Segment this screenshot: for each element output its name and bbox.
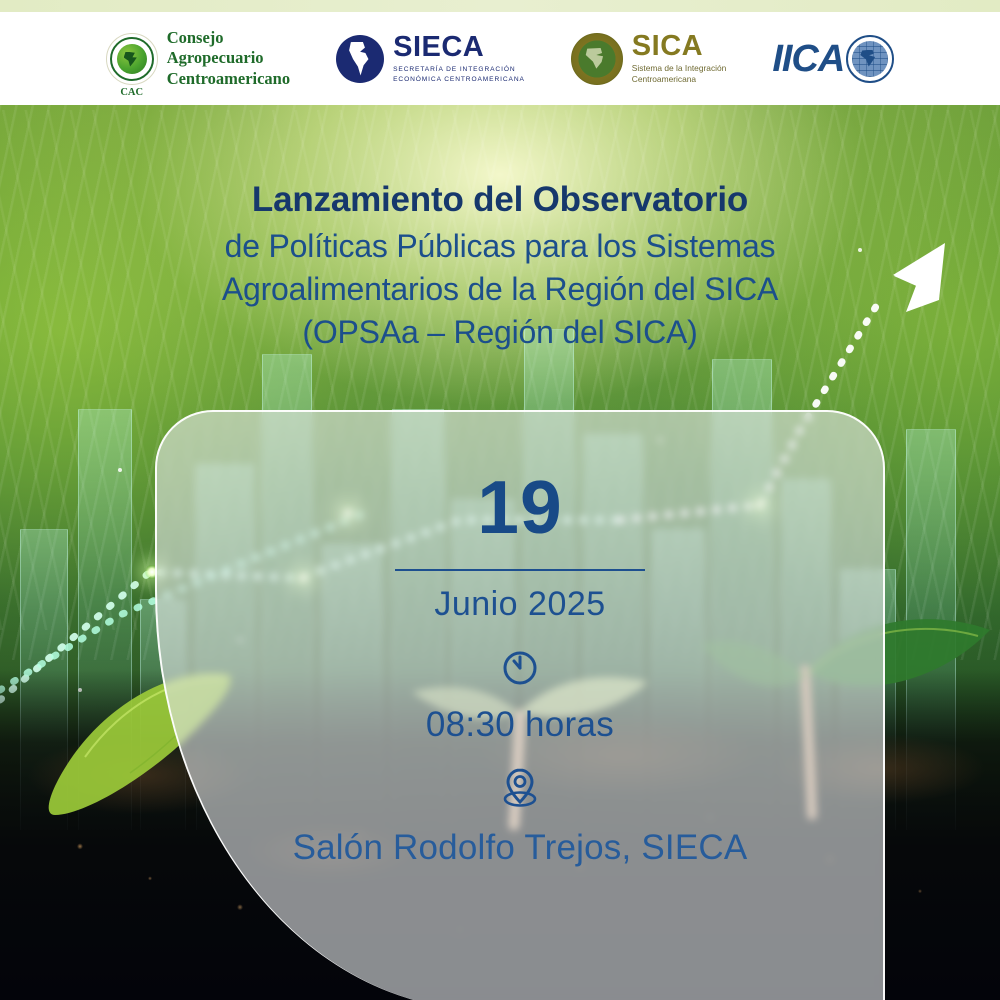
- logo-sica: SICA Sistema de la Integración Centroame…: [571, 32, 727, 86]
- iica-globe-icon: [846, 35, 894, 83]
- sieca-sub-line-2: ECONÓMICA CENTROAMERICANA: [393, 75, 525, 85]
- cac-abbrev: CAC: [107, 87, 157, 98]
- event-month-year: Junio 2025: [155, 585, 885, 624]
- sica-seal-icon: [571, 33, 623, 85]
- poster-title: Lanzamiento del Observatorio de Política…: [0, 180, 1000, 354]
- cac-name: Consejo Agropecuario Centroamericano: [167, 28, 290, 89]
- logo-iica: IICA: [772, 35, 894, 83]
- title-line-4: (OPSAa – Región del SICA): [0, 311, 1000, 354]
- sieca-sub-line-1: SECRETARÍA DE INTEGRACIÓN: [393, 65, 525, 75]
- title-line-2: de Políticas Públicas para los Sistemas: [0, 225, 1000, 268]
- iica-name: IICA: [772, 40, 844, 78]
- title-line-1: Lanzamiento del Observatorio: [0, 180, 1000, 220]
- top-accent-strip: [0, 0, 1000, 12]
- cac-name-line-1: Consejo: [167, 28, 290, 48]
- date-divider: [395, 569, 645, 571]
- sieca-globe-icon: [336, 35, 384, 83]
- sica-subtitle: Sistema de la Integración Centroamerican…: [632, 63, 727, 86]
- sica-sub-line-1: Sistema de la Integración: [632, 63, 727, 74]
- event-poster: CAC Consejo Agropecuario Centroamericano…: [0, 0, 1000, 1000]
- logo-cac: CAC Consejo Agropecuario Centroamericano: [106, 28, 290, 89]
- cac-name-line-3: Centroamericano: [167, 69, 290, 89]
- event-day: 19: [155, 470, 885, 545]
- clock-icon: [155, 648, 885, 693]
- sica-name: SICA: [632, 32, 727, 61]
- event-time: 08:30 horas: [155, 705, 885, 745]
- event-venue: Salón Rodolfo Trejos, SIECA: [155, 828, 885, 868]
- cac-seal-icon: CAC: [106, 33, 158, 85]
- title-line-3: Agroalimentarios de la Región del SICA: [0, 268, 1000, 311]
- organizer-logo-bar: CAC Consejo Agropecuario Centroamericano…: [0, 12, 1000, 105]
- event-details: 19 Junio 2025 08:30 horas Salón Rodolfo …: [155, 410, 885, 868]
- logo-sieca: SIECA SECRETARÍA DE INTEGRACIÓN ECONÓMIC…: [336, 33, 525, 84]
- location-pin-icon: [155, 763, 885, 814]
- sieca-subtitle: SECRETARÍA DE INTEGRACIÓN ECONÓMICA CENT…: [393, 65, 525, 84]
- sica-sub-line-2: Centroamericana: [632, 74, 727, 85]
- sieca-name: SIECA: [393, 33, 525, 62]
- cac-name-line-2: Agropecuario: [167, 48, 290, 68]
